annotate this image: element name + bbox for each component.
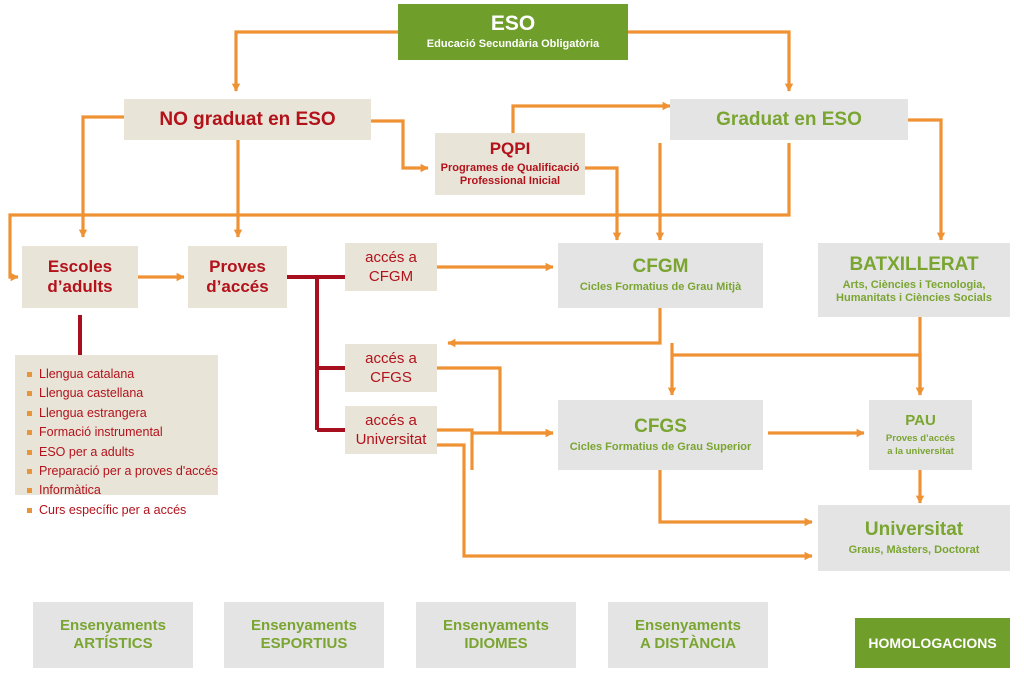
node-cfgs-title: CFGS	[634, 416, 687, 438]
node-pqpi-subtitle-line2: Professional Inicial	[460, 175, 560, 189]
bottom-box-idiomes-line2: IDIOMES	[464, 635, 527, 653]
node-universitat[interactable]: Universitat Graus, Màsters, Doctorat	[818, 505, 1010, 571]
node-pqpi-subtitle-line1: Programes de Qualificació	[441, 162, 580, 176]
node-proves-acces-line2: d’accés	[206, 277, 268, 297]
arrow-cfgm-to-accescfgs	[448, 308, 660, 343]
node-acces-universitat-line1: accés a	[365, 411, 417, 431]
node-no-graduat-eso[interactable]: NO graduat en ESO	[124, 99, 371, 140]
diagram-canvas: ESO Educació Secundària Obligatòria NO g…	[0, 0, 1024, 675]
node-acces-universitat-line2: Universitat	[356, 430, 427, 450]
list-item: ESO per a adults	[25, 443, 210, 462]
arrow-cfgm-to-pau	[672, 355, 920, 395]
bottom-box-esportius[interactable]: Ensenyaments ESPORTIUS	[224, 602, 384, 668]
node-acces-cfgs[interactable]: accés a CFGS	[345, 344, 437, 392]
node-pau-subtitle-line2: a la universitat	[887, 446, 954, 458]
redline-proves-trunk	[287, 277, 317, 430]
node-acces-cfgm-line2: CFGM	[369, 267, 413, 287]
node-escoles-adults[interactable]: Escoles d’adults	[22, 246, 138, 308]
arrow-cfgs-to-universitat	[660, 470, 812, 522]
node-eso-title: ESO	[491, 12, 535, 36]
list-item: Llengua castellana	[25, 384, 210, 403]
list-item: Formació instrumental	[25, 423, 210, 442]
arrow-pqpi-to-cfgm	[585, 168, 617, 240]
list-item: Curs específic per a accés	[25, 501, 210, 520]
node-cfgs-subtitle: Cicles Formatius de Grau Superior	[570, 441, 752, 455]
node-proves-acces[interactable]: Proves d’accés	[188, 246, 287, 308]
node-acces-cfgs-line1: accés a	[365, 349, 417, 369]
arrow-eso-to-graduat	[628, 32, 789, 91]
bottom-box-artistics-line2: ARTÍSTICS	[73, 635, 152, 653]
node-batxillerat[interactable]: BATXILLERAT Arts, Ciències i Tecnologia,…	[818, 243, 1010, 317]
subject-list-items: Llengua catalana Llengua castellana Llen…	[25, 365, 210, 520]
node-acces-cfgs-line2: CFGS	[370, 368, 412, 388]
node-universitat-subtitle: Graus, Màsters, Doctorat	[849, 544, 980, 558]
arrow-graduat-to-batxillerat	[908, 120, 941, 240]
node-pqpi[interactable]: PQPI Programes de Qualificació Professio…	[435, 133, 585, 195]
node-proves-acces-line1: Proves	[209, 257, 266, 277]
bottom-box-homologacions[interactable]: HOMOLOGACIONS	[855, 618, 1010, 668]
list-item: Llengua estrangera	[25, 404, 210, 423]
arrow-nograduat-to-pqpi	[371, 121, 428, 168]
node-graduat-eso[interactable]: Graduat en ESO	[670, 99, 908, 140]
bottom-box-idiomes[interactable]: Ensenyaments IDIOMES	[416, 602, 576, 668]
arrow-accesuni-to-cfgs	[437, 430, 553, 470]
arrow-eso-to-nograduat	[236, 32, 398, 91]
node-escoles-adults-line1: Escoles	[48, 257, 112, 277]
node-cfgm[interactable]: CFGM Cicles Formatius de Grau Mitjà	[558, 243, 763, 308]
node-batxillerat-subtitle-line1: Arts, Ciències i Tecnologia,	[843, 279, 986, 293]
node-escoles-adults-line2: d’adults	[47, 277, 112, 297]
list-item: Llengua catalana	[25, 365, 210, 384]
node-eso[interactable]: ESO Educació Secundària Obligatòria	[398, 4, 628, 60]
node-graduat-eso-title: Graduat en ESO	[716, 109, 862, 131]
node-universitat-title: Universitat	[865, 519, 963, 541]
node-cfgm-subtitle: Cicles Formatius de Grau Mitjà	[580, 281, 741, 295]
node-batxillerat-title: BATXILLERAT	[849, 254, 978, 276]
bottom-box-idiomes-line1: Ensenyaments	[443, 617, 549, 635]
node-acces-cfgm-line1: accés a	[365, 248, 417, 268]
escoles-adults-subject-list: Llengua catalana Llengua castellana Llen…	[15, 355, 218, 495]
bottom-box-homologacions-label: HOMOLOGACIONS	[868, 635, 996, 651]
node-acces-cfgm[interactable]: accés a CFGM	[345, 243, 437, 291]
bottom-box-esportius-line2: ESPORTIUS	[261, 635, 348, 653]
bottom-box-artistics-line1: Ensenyaments	[60, 617, 166, 635]
bottom-box-a-distancia-line1: Ensenyaments	[635, 617, 741, 635]
bottom-box-a-distancia-line2: A DISTÀNCIA	[640, 635, 736, 653]
list-item: Informàtica	[25, 481, 210, 500]
node-pau-subtitle-line1: Proves d’accés	[886, 433, 955, 445]
node-pau-title: PAU	[905, 412, 936, 430]
bottom-box-artistics[interactable]: Ensenyaments ARTÍSTICS	[33, 602, 193, 668]
arrow-accescfgs-to-cfgs	[437, 368, 553, 433]
bottom-box-esportius-line1: Ensenyaments	[251, 617, 357, 635]
node-batxillerat-subtitle-line2: Humanitats i Ciències Socials	[836, 292, 992, 306]
node-pau[interactable]: PAU Proves d’accés a la universitat	[869, 400, 972, 470]
bottom-box-a-distancia[interactable]: Ensenyaments A DISTÀNCIA	[608, 602, 768, 668]
node-cfgm-title: CFGM	[633, 256, 689, 278]
list-item: Preparació per a proves d'accés	[25, 462, 210, 481]
node-acces-universitat[interactable]: accés a Universitat	[345, 406, 437, 454]
node-pqpi-title: PQPI	[490, 139, 531, 159]
node-cfgs[interactable]: CFGS Cicles Formatius de Grau Superior	[558, 400, 763, 470]
node-eso-subtitle: Educació Secundària Obligatòria	[427, 38, 599, 52]
node-no-graduat-eso-title: NO graduat en ESO	[159, 109, 335, 131]
